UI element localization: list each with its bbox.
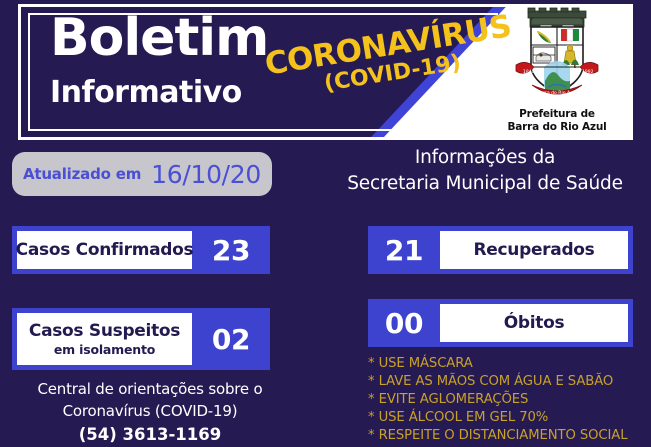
stat-suspected-sublabel: em isolamento <box>54 342 155 357</box>
svg-text:1992: 1992 <box>582 69 594 75</box>
svg-text:Barra do Rio Azul: Barra do Rio Azul <box>537 90 577 96</box>
bulletin-page: Boletim Informativo CORONAVÍRUS (COVID-1… <box>0 0 651 447</box>
health-department-line2: Secretaria Municipal de Saúde <box>330 171 640 197</box>
stat-deaths-label-box: Óbitos <box>440 304 628 342</box>
last-updated-badge: Atualizado em 16/10/20 <box>12 152 272 196</box>
stat-confirmed-cases: Casos Confirmados 23 <box>12 226 270 274</box>
stat-recovered-cases: 21 Recuperados <box>368 226 633 274</box>
stat-deaths: 00 Óbitos <box>368 299 633 347</box>
contact-line2: Coronavírus (COVID-19) <box>0 401 300 423</box>
coat-of-arms-icon: 1840 1992 Barra do Rio Azul <box>514 7 600 107</box>
stat-suspected-label-box: Casos Suspeitos em isolamento <box>17 313 192 365</box>
prevention-tips-list: * USE MÁSCARA * LAVE AS MÃOS COM ÁGUA E … <box>368 355 651 445</box>
health-department-line1: Informações da <box>330 145 640 171</box>
stat-recovered-label: Recuperados <box>473 240 594 260</box>
svg-text:1840: 1840 <box>523 69 535 75</box>
logo-caption-line2: Barra do Rio Azul <box>507 121 606 133</box>
page-title: Boletim <box>50 12 268 64</box>
stat-recovered-label-box: Recuperados <box>440 231 628 269</box>
last-updated-label: Atualizado em <box>23 165 141 183</box>
municipality-logo: 1840 1992 Barra do Rio Azul Prefeitura d… <box>495 6 619 138</box>
stat-confirmed-value: 23 <box>192 234 270 267</box>
stat-confirmed-label: Casos Confirmados <box>16 240 194 260</box>
prevention-tip: * EVITE AGLOMERAÇÕES <box>368 391 651 409</box>
stat-suspected-label: Casos Suspeitos <box>29 321 180 341</box>
stat-suspected-value: 02 <box>192 323 270 356</box>
health-department-heading: Informações da Secretaria Municipal de S… <box>330 145 640 196</box>
contact-block: Central de orientações sobre o Coronavír… <box>0 379 300 446</box>
prevention-tip: * RESPEITE O DISTANCIAMENTO SOCIAL <box>368 427 651 445</box>
prevention-tip: * USE MÁSCARA <box>368 355 651 373</box>
logo-caption: Prefeitura de Barra do Rio Azul <box>507 108 606 134</box>
logo-caption-line1: Prefeitura de <box>519 108 595 120</box>
stat-deaths-value: 00 <box>368 307 440 340</box>
stat-suspected-cases: Casos Suspeitos em isolamento 02 <box>12 308 270 370</box>
stat-confirmed-label-box: Casos Confirmados <box>17 231 192 269</box>
prevention-tip: * USE ÁLCOOL EM GEL 70% <box>368 409 651 427</box>
last-updated-value: 16/10/20 <box>151 160 261 189</box>
stat-recovered-value: 21 <box>368 234 440 267</box>
contact-phone: (54) 3613-1169 <box>0 423 300 447</box>
contact-line1: Central de orientações sobre o <box>0 379 300 401</box>
stat-deaths-label: Óbitos <box>504 313 565 333</box>
header-panel: Boletim Informativo CORONAVÍRUS (COVID-1… <box>18 4 633 140</box>
prevention-tip: * LAVE AS MÃOS COM ÁGUA E SABÃO <box>368 373 651 391</box>
page-subtitle: Informativo <box>50 78 242 108</box>
